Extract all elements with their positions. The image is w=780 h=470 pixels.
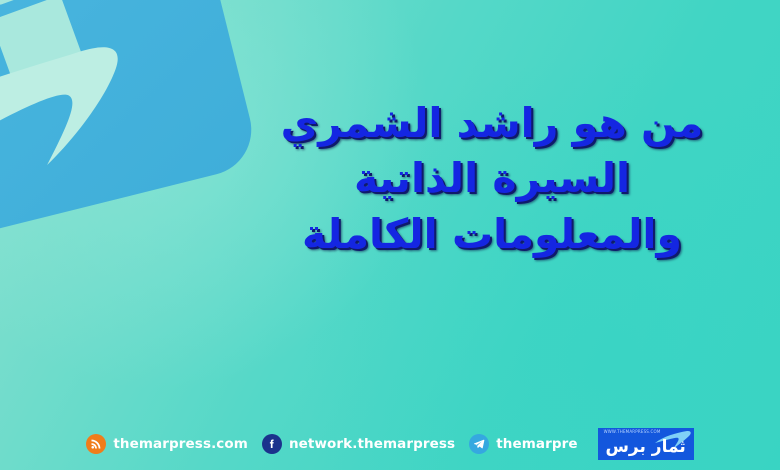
footer-bar: themarpress.com network.themarpress them… [0,418,780,470]
telegram-icon [469,434,489,454]
themarpress-logo-watermark [0,0,261,243]
social-label-facebook: network.themarpress [289,436,455,452]
rss-icon [86,434,106,454]
headline-line-1: من هو راشد الشمري [232,96,752,151]
social-label-telegram: themarpre [496,436,577,452]
page-title: من هو راشد الشمري السيرة الذاتية والمعلو… [232,96,752,262]
brand-logo-box[interactable]: WWW.THEMARPRESS.COM ثمار برس [598,428,694,460]
poster-canvas: من هو راشد الشمري السيرة الذاتية والمعلو… [0,0,780,470]
social-link-website[interactable]: themarpress.com [86,434,248,454]
headline-line-2: السيرة الذاتية [232,151,752,206]
social-link-facebook[interactable]: network.themarpress [262,434,455,454]
facebook-icon [262,434,282,454]
headline-line-3: والمعلومات الكاملة [232,207,752,262]
social-link-telegram[interactable]: themarpre [469,434,577,454]
brand-microtext: WWW.THEMARPRESS.COM [604,430,661,434]
brand-name-arabic: ثمار برس [605,439,685,460]
social-label-website: themarpress.com [113,436,248,452]
